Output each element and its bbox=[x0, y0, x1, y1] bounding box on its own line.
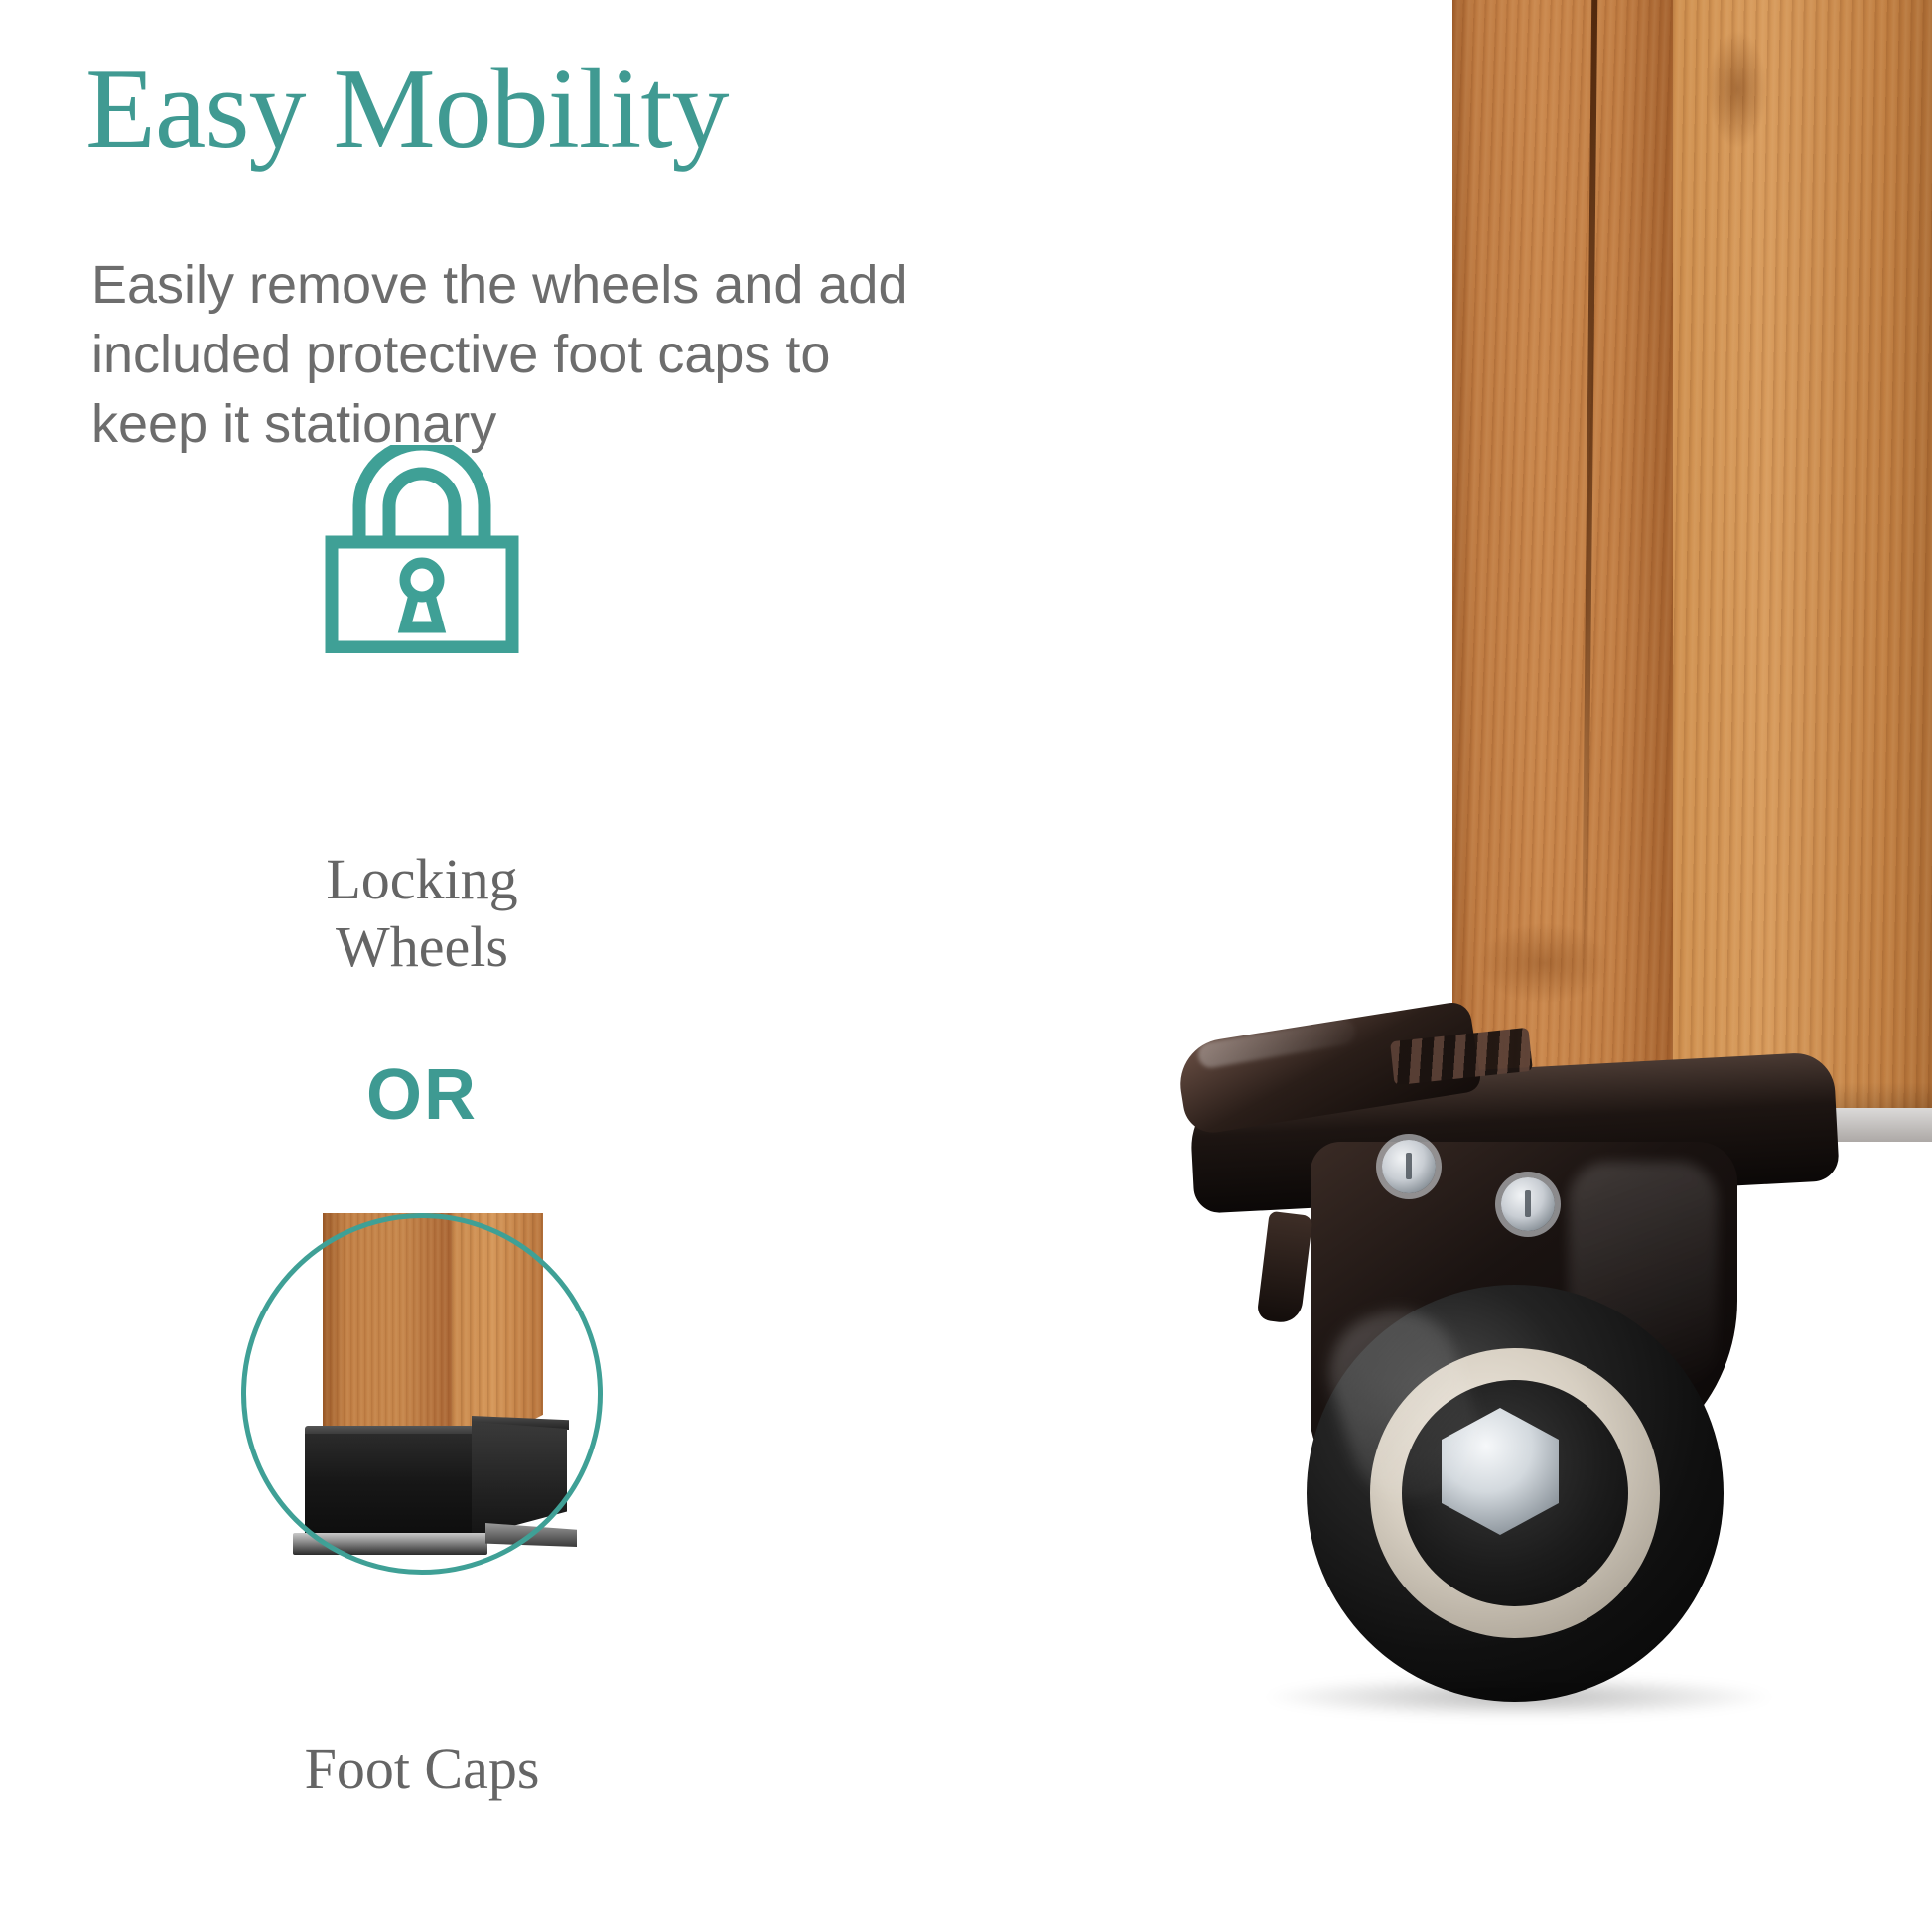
or-separator: OR bbox=[164, 1054, 680, 1136]
wood-knot-lower bbox=[1479, 923, 1608, 1003]
caster-screw-lower bbox=[1501, 1177, 1555, 1231]
foot-caps-label: Foot Caps bbox=[164, 1735, 680, 1803]
padlock-icon bbox=[318, 445, 526, 653]
page-title: Easy Mobility bbox=[85, 52, 729, 167]
floor-contact-shadow bbox=[1261, 1676, 1777, 1718]
product-photo bbox=[1013, 0, 1932, 1932]
wood-knot-upper bbox=[1708, 30, 1767, 149]
wood-leg-side-face bbox=[1673, 0, 1932, 1108]
locking-wheels-label-line1: Locking bbox=[164, 846, 680, 913]
foot-cap-circle-frame bbox=[241, 1213, 603, 1575]
infographic-page: Easy Mobility Easily remove the wheels a… bbox=[0, 0, 1932, 1932]
caster-screw-upper bbox=[1382, 1140, 1436, 1193]
locking-wheels-label: Locking Wheels bbox=[164, 846, 680, 982]
page-subtitle: Easily remove the wheels and add include… bbox=[91, 250, 945, 460]
locking-wheels-label-line2: Wheels bbox=[164, 913, 680, 981]
caster-brake-tab bbox=[1256, 1211, 1312, 1325]
